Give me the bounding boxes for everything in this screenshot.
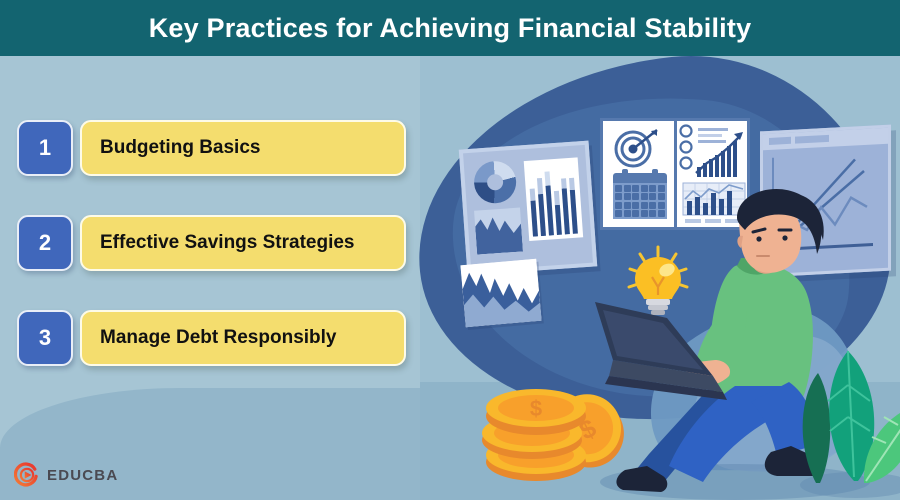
practice-number: 2 [39, 230, 51, 256]
practice-label-pill[interactable]: Budgeting Basics [80, 120, 406, 176]
left-dashboard-panel [459, 141, 597, 276]
pie-chart-icon [473, 160, 518, 205]
bar-chart-icon [524, 157, 583, 241]
svg-text:$: $ [530, 396, 542, 421]
coin-stack: $ $ [482, 372, 632, 487]
educba-logo[interactable]: EDUCBA [14, 462, 118, 488]
practices-list: 1 Budgeting Basics 2 Effective Savings S… [0, 120, 420, 405]
practice-number: 3 [39, 325, 51, 351]
educba-logo-text: EDUCBA [47, 467, 118, 484]
practice-label-pill[interactable]: Effective Savings Strategies [80, 215, 406, 271]
tilted-paper-chart [460, 259, 541, 327]
list-item[interactable]: 3 Manage Debt Responsibly [0, 310, 420, 374]
practice-label-pill[interactable]: Manage Debt Responsibly [80, 310, 406, 366]
area-chart-icon [474, 208, 523, 255]
plant-leaves [798, 325, 900, 500]
practice-number: 1 [39, 135, 51, 161]
page-title: Key Practices for Achieving Financial St… [149, 13, 752, 44]
educba-mark-icon [14, 462, 40, 488]
list-item[interactable]: 2 Effective Savings Strategies [0, 215, 420, 279]
practice-label: Budgeting Basics [82, 137, 260, 159]
practice-label: Manage Debt Responsibly [82, 327, 337, 349]
header-bar: Key Practices for Achieving Financial St… [0, 0, 900, 56]
list-item[interactable]: 1 Budgeting Basics [0, 120, 420, 184]
practice-number-badge: 1 [17, 120, 73, 176]
infographic-canvas: $ $ Key Practices for Achieving Financia… [0, 0, 900, 500]
practice-label: Effective Savings Strategies [82, 232, 355, 254]
practice-number-badge: 2 [17, 215, 73, 271]
practice-number-badge: 3 [17, 310, 73, 366]
target-dartboard-icon [612, 127, 660, 171]
